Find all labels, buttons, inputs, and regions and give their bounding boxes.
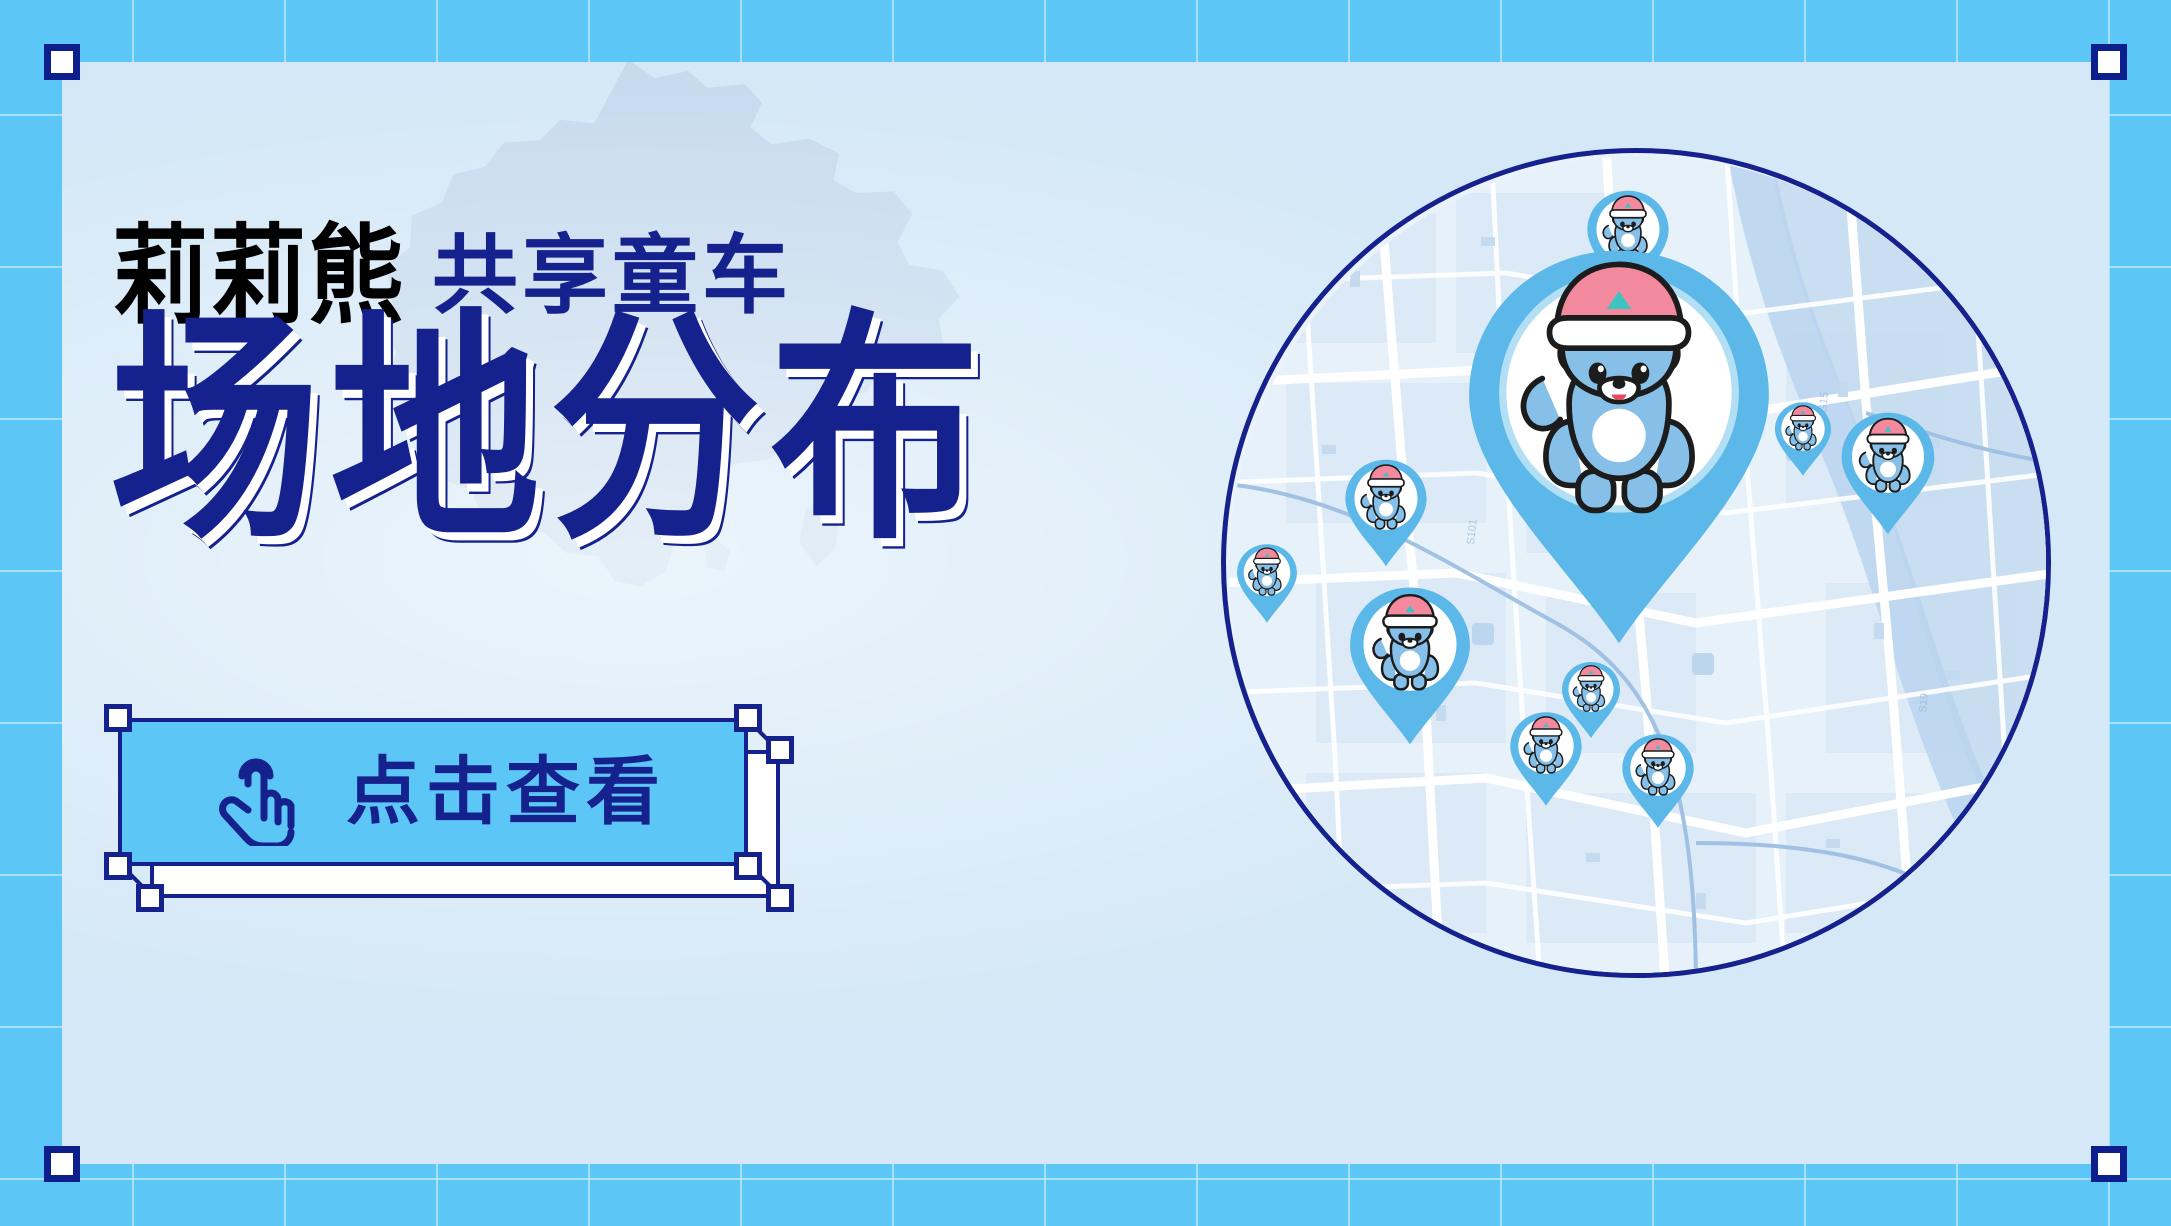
poster-canvas: 莉莉熊 共享童车 场地分布: [0, 0, 2171, 1226]
panel-handle-top-right[interactable]: [2091, 44, 2127, 80]
cta-handle-top-left[interactable]: [104, 704, 132, 732]
svg-text:S19: S19: [1917, 693, 1931, 714]
map-circle-container[interactable]: S101 S101 S101 G104 G15 S32 S19: [1221, 148, 2051, 978]
panel-handle-bottom-right[interactable]: [2091, 1146, 2127, 1182]
location-pin-5[interactable]: [1774, 401, 1832, 477]
cta-handle-bottom-left[interactable]: [104, 852, 132, 880]
panel-handle-top-left[interactable]: [44, 44, 80, 80]
pointing-hand-icon: [214, 738, 302, 846]
page-title: 场地分布: [110, 300, 990, 563]
cta-handle-top-right[interactable]: [734, 704, 762, 732]
cta-handle-plate-bottom-right[interactable]: [766, 884, 794, 912]
location-pin-8[interactable]: [1509, 711, 1583, 807]
view-map-button[interactable]: 点击查看: [118, 718, 748, 866]
location-pin-6[interactable]: [1840, 411, 1936, 536]
main-location-pin[interactable]: [1464, 245, 1774, 649]
location-pin-4[interactable]: [1348, 585, 1472, 747]
cta-handle-plate-top-right[interactable]: [766, 736, 794, 764]
cta-handle-bottom-right[interactable]: [734, 852, 762, 880]
panel-handle-bottom-left[interactable]: [44, 1146, 80, 1182]
location-pin-9[interactable]: [1621, 733, 1695, 829]
location-pin-2[interactable]: [1344, 458, 1428, 568]
poster-left-content: 莉莉熊 共享童车 场地分布: [0, 0, 1180, 1226]
location-pin-3[interactable]: [1236, 543, 1298, 624]
cta-handle-plate-bottom-left[interactable]: [136, 884, 164, 912]
cta-button-label: 点击查看: [346, 755, 666, 829]
site-distribution-map[interactable]: S101 S101 S101 G104 G15 S32 S19: [1221, 148, 2051, 978]
cta-button-group: 点击查看: [118, 718, 798, 918]
